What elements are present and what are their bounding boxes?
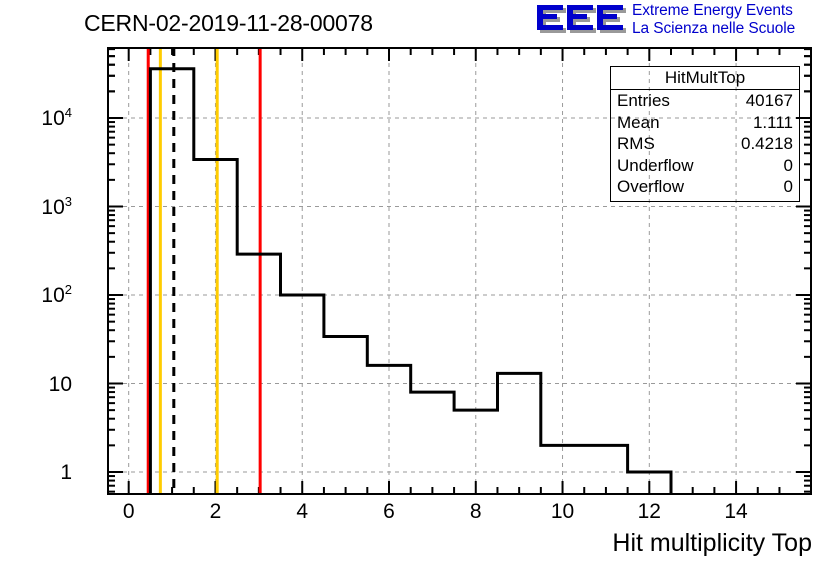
stats-row-key: Mean — [617, 112, 660, 134]
stats-row: Overflow0 — [611, 176, 799, 198]
y-tick-label-1: 1 — [60, 461, 72, 485]
stats-row-value: 0.4218 — [741, 133, 793, 155]
stats-row: Underflow0 — [611, 155, 799, 177]
x-tick-label-6: 6 — [359, 500, 419, 524]
stats-row-value: 0 — [784, 176, 793, 198]
stats-row-value: 1.111 — [753, 112, 793, 134]
root-canvas: CERN-02-2019-11-28-00078 — [0, 0, 836, 572]
x-tick-label-2: 2 — [185, 500, 245, 524]
stats-row-key: Entries — [617, 90, 670, 112]
stats-row-key: RMS — [617, 133, 655, 155]
x-tick-label-12: 12 — [619, 500, 679, 524]
x-tick-label-8: 8 — [446, 500, 506, 524]
stats-box-rows: Entries40167Mean1.111RMS0.4218Underflow0… — [611, 90, 799, 198]
x-tick-label-0: 0 — [99, 500, 159, 524]
stats-row: Entries40167 — [611, 90, 799, 112]
stats-box-title: HitMultTop — [611, 67, 799, 90]
stats-row-value: 40167 — [746, 90, 793, 112]
y-tick-label-1000: 103 — [41, 196, 72, 220]
x-tick-label-14: 14 — [706, 500, 766, 524]
y-tick-label-10: 10 — [49, 373, 72, 397]
stats-box: HitMultTop Entries40167Mean1.111RMS0.421… — [610, 66, 800, 202]
x-tick-label-4: 4 — [272, 500, 332, 524]
stats-row-value: 0 — [784, 155, 793, 177]
stats-row-key: Overflow — [617, 176, 684, 198]
x-axis-title: Hit multiplicity Top — [612, 529, 812, 558]
y-tick-label-10000: 104 — [41, 107, 72, 131]
x-tick-label-10: 10 — [533, 500, 593, 524]
stats-row: Mean1.111 — [611, 112, 799, 134]
stats-row: RMS0.4218 — [611, 133, 799, 155]
stats-row-key: Underflow — [617, 155, 694, 177]
y-tick-label-100: 102 — [41, 284, 72, 308]
